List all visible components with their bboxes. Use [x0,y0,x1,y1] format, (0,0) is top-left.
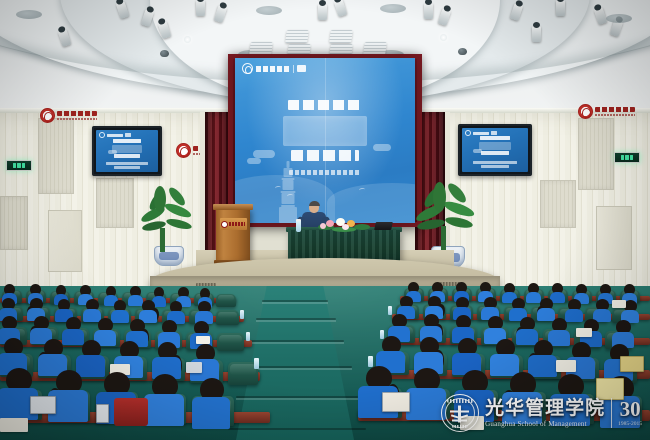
main-projection-screen [235,58,415,223]
wall-panel [96,178,134,228]
wall-panel [578,118,614,190]
wall-logo-text [57,111,97,120]
notebook [196,336,210,344]
spotlight-icon [424,3,433,19]
podium-lectern [216,208,250,262]
security-camera-icon [458,48,467,55]
water-bottle [380,330,384,339]
exit-glyph [22,163,26,168]
wall-door[interactable] [48,210,82,272]
spotlight-icon [556,0,565,16]
watermark-divider [611,398,612,428]
exit-glyph [630,155,634,160]
water-bottle [296,219,301,232]
aisle-step-edge [256,320,336,322]
side-screen-badge [125,133,131,137]
spotlight-icon [532,26,541,42]
anniversary-number: 30 [620,399,641,420]
watermark-cn-name: 光华管理学院 [485,399,605,418]
university-seal-icon [221,221,228,228]
anniversary-years: 1985-2015 [618,421,642,427]
watermark-text: 光华管理学院 Guanghua School of Management [485,399,605,428]
main-screen-header [242,63,306,74]
water-bottle [240,310,244,319]
aisle-step-edge [262,302,328,304]
spotlight-icon [318,4,327,20]
main-screen-title-block [235,100,415,175]
ceiling-recess-light [606,14,632,23]
exit-glyph [13,163,17,168]
university-seal-icon [242,63,253,74]
tablet-device[interactable] [30,396,56,414]
side-screen-title [96,139,158,158]
seat[interactable] [216,310,239,325]
exit-glyph [625,155,629,160]
wall-panel [38,118,74,194]
main-screen-org-name [256,66,290,72]
podium-logo-plate [220,218,247,230]
downlight-icon [184,36,191,43]
wall-panel [0,196,28,250]
ceiling-recess-light [256,6,282,15]
notebook-pad [620,356,644,372]
wall-logo-text [595,107,635,116]
ceiling-recess-light [380,4,406,13]
seal-bottom-text [452,425,468,428]
seal-top-text [447,399,473,403]
wall-panel [540,180,576,228]
smartphone[interactable] [96,404,109,423]
wall-door[interactable] [596,206,632,270]
water-bottle [368,356,373,367]
water-bottle [254,358,259,369]
main-screen-year [283,116,367,146]
main-screen-line1 [288,100,362,110]
header-divider [293,65,294,73]
aisle-step-edge [250,342,344,344]
plant-foliage [415,182,477,250]
notebook [556,360,576,372]
auditorium-photo: 光华管理学院 Guanghua School of Management 30 … [0,0,650,440]
tablet-device[interactable] [382,392,410,412]
water-bottle [246,332,250,341]
anniversary-badge: 30 1985-2015 [618,399,642,427]
university-seal-icon [578,104,593,119]
watermark-logo: 光华管理学院 Guanghua School of Management 30 … [441,394,642,432]
side-screen-org [107,134,123,137]
seat[interactable] [217,333,244,351]
university-seal-icon [176,143,191,158]
exit-glyph [17,163,21,168]
wall-logo-right [578,104,635,119]
university-seal-icon [40,108,55,123]
notebook [612,300,626,308]
university-seal-icon [441,394,479,432]
water-bottle [388,306,392,315]
tablet-device [186,362,202,373]
ceiling-recess-light [16,10,42,19]
side-screen-subtitle [462,159,528,170]
side-screen-subtitle [96,160,158,171]
seat[interactable] [216,294,236,307]
podium-logo-text [229,222,245,226]
backpack [114,398,148,426]
side-screen-org [473,132,489,135]
aisle-step-edge [236,398,358,400]
podium-top [213,204,253,210]
side-screen-title [462,136,528,155]
exit-sign-left [6,160,32,171]
downlight-icon [440,34,447,41]
flower-arrangement [318,218,370,232]
seal-glyph [450,405,470,422]
wall-logo-left [40,108,97,123]
side-screen-left [92,126,162,176]
speaker-hair [309,201,320,206]
hill-graphic [327,183,415,223]
plant-foliage [138,186,198,250]
ceiling-vent [285,30,309,43]
seal-icon [99,132,105,138]
exit-sign-right [614,152,640,163]
ceiling-vent [329,30,353,43]
aisle-step [228,428,366,430]
security-camera-icon [160,50,169,57]
plant-left [140,186,196,266]
side-screen-badge [491,131,497,135]
main-screen-anniversary-badge [297,65,306,72]
watermark-en-name: Guanghua School of Management [485,421,605,428]
notebook [576,328,592,337]
spotlight-icon [196,0,205,16]
main-screen-date [289,170,361,175]
exit-glyph [621,155,625,160]
laptop-on-table [374,222,393,230]
main-screen-line2 [291,150,359,161]
side-screen-header [99,132,131,138]
side-screen-right [458,124,532,176]
notebook [0,418,28,432]
aisle-step-edge [244,368,352,370]
